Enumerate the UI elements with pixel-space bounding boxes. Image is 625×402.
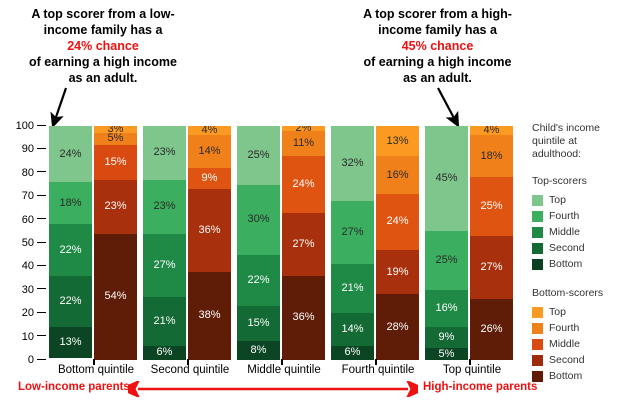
bar-segment[interactable]: 27% <box>470 236 513 299</box>
bar-group: 23%23%27%21%6%4%14%9%36%38% <box>143 126 237 360</box>
annotation-line: A top scorer from a high- <box>363 7 512 21</box>
bar-segment[interactable]: 32% <box>331 126 374 201</box>
y-axis-tick-label: 20 <box>22 307 34 319</box>
y-axis-tick-label: 0 <box>28 354 34 366</box>
legend-swatch-icon <box>532 323 543 334</box>
low-income-annotation: A top scorer from a low- income family h… <box>8 6 198 86</box>
legend-swatch-icon <box>532 371 543 382</box>
y-axis-tick: 0 <box>0 354 46 366</box>
y-axis-tick-dash <box>37 218 46 219</box>
bar-segment[interactable]: 22% <box>237 255 280 306</box>
legend-item[interactable]: Bottom <box>532 368 624 384</box>
bar-segment[interactable]: 27% <box>282 213 325 276</box>
y-axis-tick: 90 <box>0 143 46 155</box>
stacked-bar[interactable]: 13%16%24%19%28% <box>376 126 419 360</box>
legend-item[interactable]: Fourth <box>532 208 624 224</box>
right-annotation-arrow-icon <box>430 86 490 128</box>
legend-item-label: Second <box>549 354 585 366</box>
y-axis-tick-dash <box>37 242 46 243</box>
bar-segment[interactable]: 23% <box>143 126 186 180</box>
bar-segment[interactable]: 9% <box>425 327 468 348</box>
x-axis-label: Middle quintile <box>237 364 331 376</box>
high-income-annotation: A top scorer from a high- income family … <box>340 6 535 86</box>
x-axis-label: Bottom quintile <box>49 364 143 376</box>
legend-title: Child's income quintile at adulthood: <box>532 122 624 161</box>
legend-item[interactable]: Middle <box>532 224 624 240</box>
legend-title-line: Child's income <box>532 122 600 134</box>
bar-segment[interactable]: 24% <box>49 126 92 182</box>
annotation-line: income family has a <box>378 23 497 37</box>
y-axis-tick: 40 <box>0 260 46 272</box>
bar-segment[interactable]: 14% <box>331 313 374 346</box>
bar-segment[interactable]: 8% <box>237 341 280 360</box>
bar-segment[interactable]: 19% <box>376 250 419 294</box>
y-axis-tick-label: 50 <box>22 237 34 249</box>
y-axis-tick: 50 <box>0 237 46 249</box>
bar-group: 32%27%21%14%6%13%16%24%19%28% <box>331 126 425 360</box>
bar-segment[interactable]: 16% <box>425 290 468 327</box>
annotation-highlight: 45% chance <box>402 39 474 53</box>
y-axis: 1009080706050403020100 <box>0 126 46 360</box>
legend-swatch-icon <box>532 211 543 222</box>
annotation-line: as an adult. <box>69 71 138 85</box>
bar-segment[interactable]: 5% <box>94 133 137 145</box>
y-axis-tick-dash <box>37 335 46 336</box>
bar-segment[interactable]: 54% <box>94 234 137 360</box>
annotation-line: income family has a <box>44 23 163 37</box>
bar-segment[interactable]: 26% <box>470 299 513 360</box>
bar-segment[interactable]: 23% <box>143 180 186 234</box>
bar-segment[interactable]: 14% <box>188 135 231 167</box>
annotation-line: as an adult. <box>403 71 472 85</box>
legend-swatch-icon <box>532 227 543 238</box>
x-axis-label: Top quintile <box>425 364 519 376</box>
y-axis-tick-label: 10 <box>22 331 34 343</box>
legend-swatch-icon <box>532 307 543 318</box>
y-axis-tick: 10 <box>0 331 46 343</box>
stacked-bar[interactable]: 25%30%22%15%8% <box>237 126 280 360</box>
legend-item[interactable]: Top <box>532 192 624 208</box>
bar-segment[interactable]: 15% <box>237 306 280 341</box>
legend-item-label: Top <box>549 306 566 318</box>
y-axis-tick: 70 <box>0 190 46 202</box>
y-axis-tick-dash <box>37 125 46 126</box>
legend-item-label: Fourth <box>549 322 579 334</box>
bar-groups: 24%18%22%22%13%3%5%15%23%54%23%23%27%21%… <box>49 126 519 360</box>
legend-item[interactable]: Middle <box>532 336 624 352</box>
y-axis-tick-dash <box>37 195 46 196</box>
y-axis-tick-label: 40 <box>22 260 34 272</box>
legend-bottom-scorers-items: TopFourthMiddleSecondBottom <box>532 304 624 384</box>
y-axis-tick-dash <box>37 148 46 149</box>
bar-segment[interactable]: 25% <box>425 231 468 290</box>
left-annotation-arrow-icon <box>40 86 100 128</box>
bar-segment[interactable]: 6% <box>331 346 374 360</box>
bar-segment[interactable]: 24% <box>376 194 419 250</box>
annotation-line: of earning a high income <box>364 55 512 69</box>
legend-item[interactable]: Bottom <box>532 256 624 272</box>
y-axis-tick-label: 90 <box>22 143 34 155</box>
legend-item-label: Fourth <box>549 210 579 222</box>
annotation-line: A top scorer from a low- <box>31 7 174 21</box>
low-income-parents-label: Low-income parents <box>18 381 130 393</box>
x-axis-label: Fourth quintile <box>331 364 425 376</box>
bar-segment[interactable]: 18% <box>49 182 92 224</box>
bar-segment[interactable]: 6% <box>143 346 186 360</box>
y-axis-tick-dash <box>37 288 46 289</box>
bar-segment[interactable]: 21% <box>143 297 186 346</box>
legend-item[interactable]: Second <box>532 240 624 256</box>
legend-title-line: quintile at <box>532 135 577 147</box>
bar-segment[interactable]: 13% <box>49 327 92 357</box>
legend-title-line: adulthood: <box>532 148 581 160</box>
stacked-bar[interactable]: 45%25%16%9%5% <box>425 126 468 360</box>
legend-group-bottom-title: Bottom-scorers <box>532 287 624 299</box>
legend-top-scorers-items: TopFourthMiddleSecondBottom <box>532 192 624 272</box>
legend-swatch-icon <box>532 355 543 366</box>
y-axis-tick: 30 <box>0 284 46 296</box>
bar-segment[interactable]: 3% <box>94 126 137 133</box>
y-axis-tick: 20 <box>0 307 46 319</box>
bar-segment[interactable]: 30% <box>237 185 280 255</box>
bar-segment[interactable]: 45% <box>425 126 468 231</box>
bar-segment[interactable]: 36% <box>188 189 231 272</box>
bar-segment[interactable]: 28% <box>376 294 419 360</box>
legend-item-label: Middle <box>549 338 580 350</box>
y-axis-tick-dash <box>37 312 46 313</box>
bar-segment[interactable]: 25% <box>470 177 513 236</box>
stacked-bar[interactable]: 2%11%24%27%36% <box>282 126 325 360</box>
bar-group: 25%30%22%15%8%2%11%24%27%36% <box>237 126 331 360</box>
legend-item-label: Bottom <box>549 258 582 270</box>
bar-group: 24%18%22%22%13%3%5%15%23%54% <box>49 126 143 360</box>
legend-group-top-title: Top-scorers <box>532 175 624 187</box>
legend-swatch-icon <box>532 195 543 206</box>
bar-segment[interactable]: 18% <box>470 135 513 177</box>
stacked-bar[interactable]: 24%18%22%22%13% <box>49 126 92 360</box>
annotation-highlight: 24% chance <box>67 39 139 53</box>
y-axis-tick-label: 70 <box>22 190 34 202</box>
legend-item-label: Bottom <box>549 370 582 382</box>
bar-segment[interactable]: 15% <box>94 145 137 180</box>
legend-item-label: Top <box>549 194 566 206</box>
legend-item[interactable]: Fourth <box>532 320 624 336</box>
y-axis-tick: 100 <box>0 120 46 132</box>
y-axis-tick-label: 80 <box>22 167 34 179</box>
bar-segment[interactable]: 23% <box>94 180 137 234</box>
stacked-bar[interactable]: 32%27%21%14%6% <box>331 126 374 360</box>
legend-swatch-icon <box>532 259 543 270</box>
y-axis-tick-label: 60 <box>22 214 34 226</box>
high-income-parents-label: High-income parents <box>423 381 537 393</box>
stacked-bar[interactable]: 23%23%27%21%6% <box>143 126 186 360</box>
annotation-line: of earning a high income <box>29 55 177 69</box>
bar-segment[interactable]: 27% <box>331 201 374 264</box>
legend: Child's income quintile at adulthood: To… <box>532 122 624 384</box>
bar-segment[interactable]: 38% <box>188 272 231 360</box>
bar-segment[interactable]: 16% <box>376 156 419 193</box>
legend-item-label: Middle <box>549 226 580 238</box>
legend-swatch-icon <box>532 243 543 254</box>
chart-root: A top scorer from a low- income family h… <box>0 0 625 401</box>
legend-swatch-icon <box>532 339 543 350</box>
plot-area: 24%18%22%22%13%3%5%15%23%54%23%23%27%21%… <box>49 126 519 360</box>
stacked-bar[interactable]: 4%14%9%36%38% <box>188 126 231 360</box>
legend-item[interactable]: Top <box>532 304 624 320</box>
legend-spacer <box>532 272 624 287</box>
legend-item[interactable]: Second <box>532 352 624 368</box>
bar-group: 45%25%16%9%5%4%18%25%27%26% <box>425 126 519 360</box>
bar-segment[interactable]: 11% <box>282 131 325 157</box>
y-axis-tick-dash <box>37 171 46 172</box>
y-axis-tick-label: 30 <box>22 284 34 296</box>
bar-segment[interactable]: 22% <box>49 276 92 327</box>
stacked-bar[interactable]: 3%5%15%23%54% <box>94 126 137 360</box>
bar-segment[interactable]: 27% <box>143 234 186 297</box>
x-axis-label: Second quintile <box>143 364 237 376</box>
y-axis-tick: 80 <box>0 167 46 179</box>
bar-segment[interactable]: 13% <box>376 126 419 156</box>
bar-segment[interactable]: 22% <box>49 224 92 275</box>
bar-segment[interactable]: 4% <box>470 126 513 135</box>
y-axis-tick-dash <box>37 265 46 266</box>
double-arrow-icon <box>128 381 418 397</box>
bar-segment[interactable]: 21% <box>331 264 374 313</box>
bar-segment[interactable]: 25% <box>237 126 280 185</box>
legend-item-label: Second <box>549 242 585 254</box>
y-axis-tick: 60 <box>0 214 46 226</box>
bar-segment[interactable]: 36% <box>282 276 325 360</box>
stacked-bar[interactable]: 4%18%25%27%26% <box>470 126 513 360</box>
bar-segment[interactable]: 9% <box>188 168 231 189</box>
bar-segment[interactable]: 24% <box>282 156 325 212</box>
bar-segment[interactable]: 5% <box>425 348 468 360</box>
y-axis-tick-dash <box>37 359 46 360</box>
bar-segment[interactable]: 4% <box>188 126 231 135</box>
x-axis-labels: Bottom quintileSecond quintileMiddle qui… <box>49 364 519 376</box>
y-axis-tick-label: 100 <box>16 120 34 132</box>
